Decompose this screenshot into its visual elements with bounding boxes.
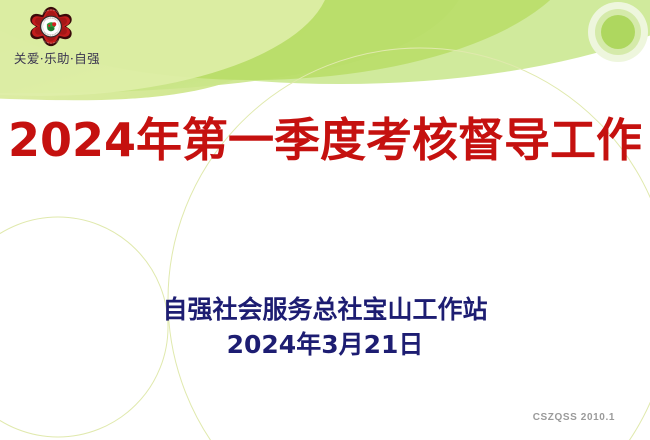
organization-logo: 关爱·乐助·自强 [0,4,110,70]
presentation-date: 2024年3月21日 [0,327,650,363]
outline-circle-right [168,48,650,440]
corner-circle-outer [588,2,648,62]
presentation-title-slide: 关爱·乐助·自强 2024年第一季度考核督导工作 自强社会服务总社宝山工作站 2… [0,0,650,440]
logo-tagline: 关爱·乐助·自强 [5,48,109,67]
slide-title: 2024年第一季度考核督导工作 [0,112,650,168]
maltese-cross-emblem-icon [28,6,74,48]
footer-code: CSZQSS 2010.1 [533,412,615,423]
corner-circle-mid [595,9,641,55]
slide-subtitle-block: 自强社会服务总社宝山工作站 2024年3月21日 [0,293,650,363]
corner-circle-inner [601,15,635,49]
organization-name: 自强社会服务总社宝山工作站 [0,293,650,327]
